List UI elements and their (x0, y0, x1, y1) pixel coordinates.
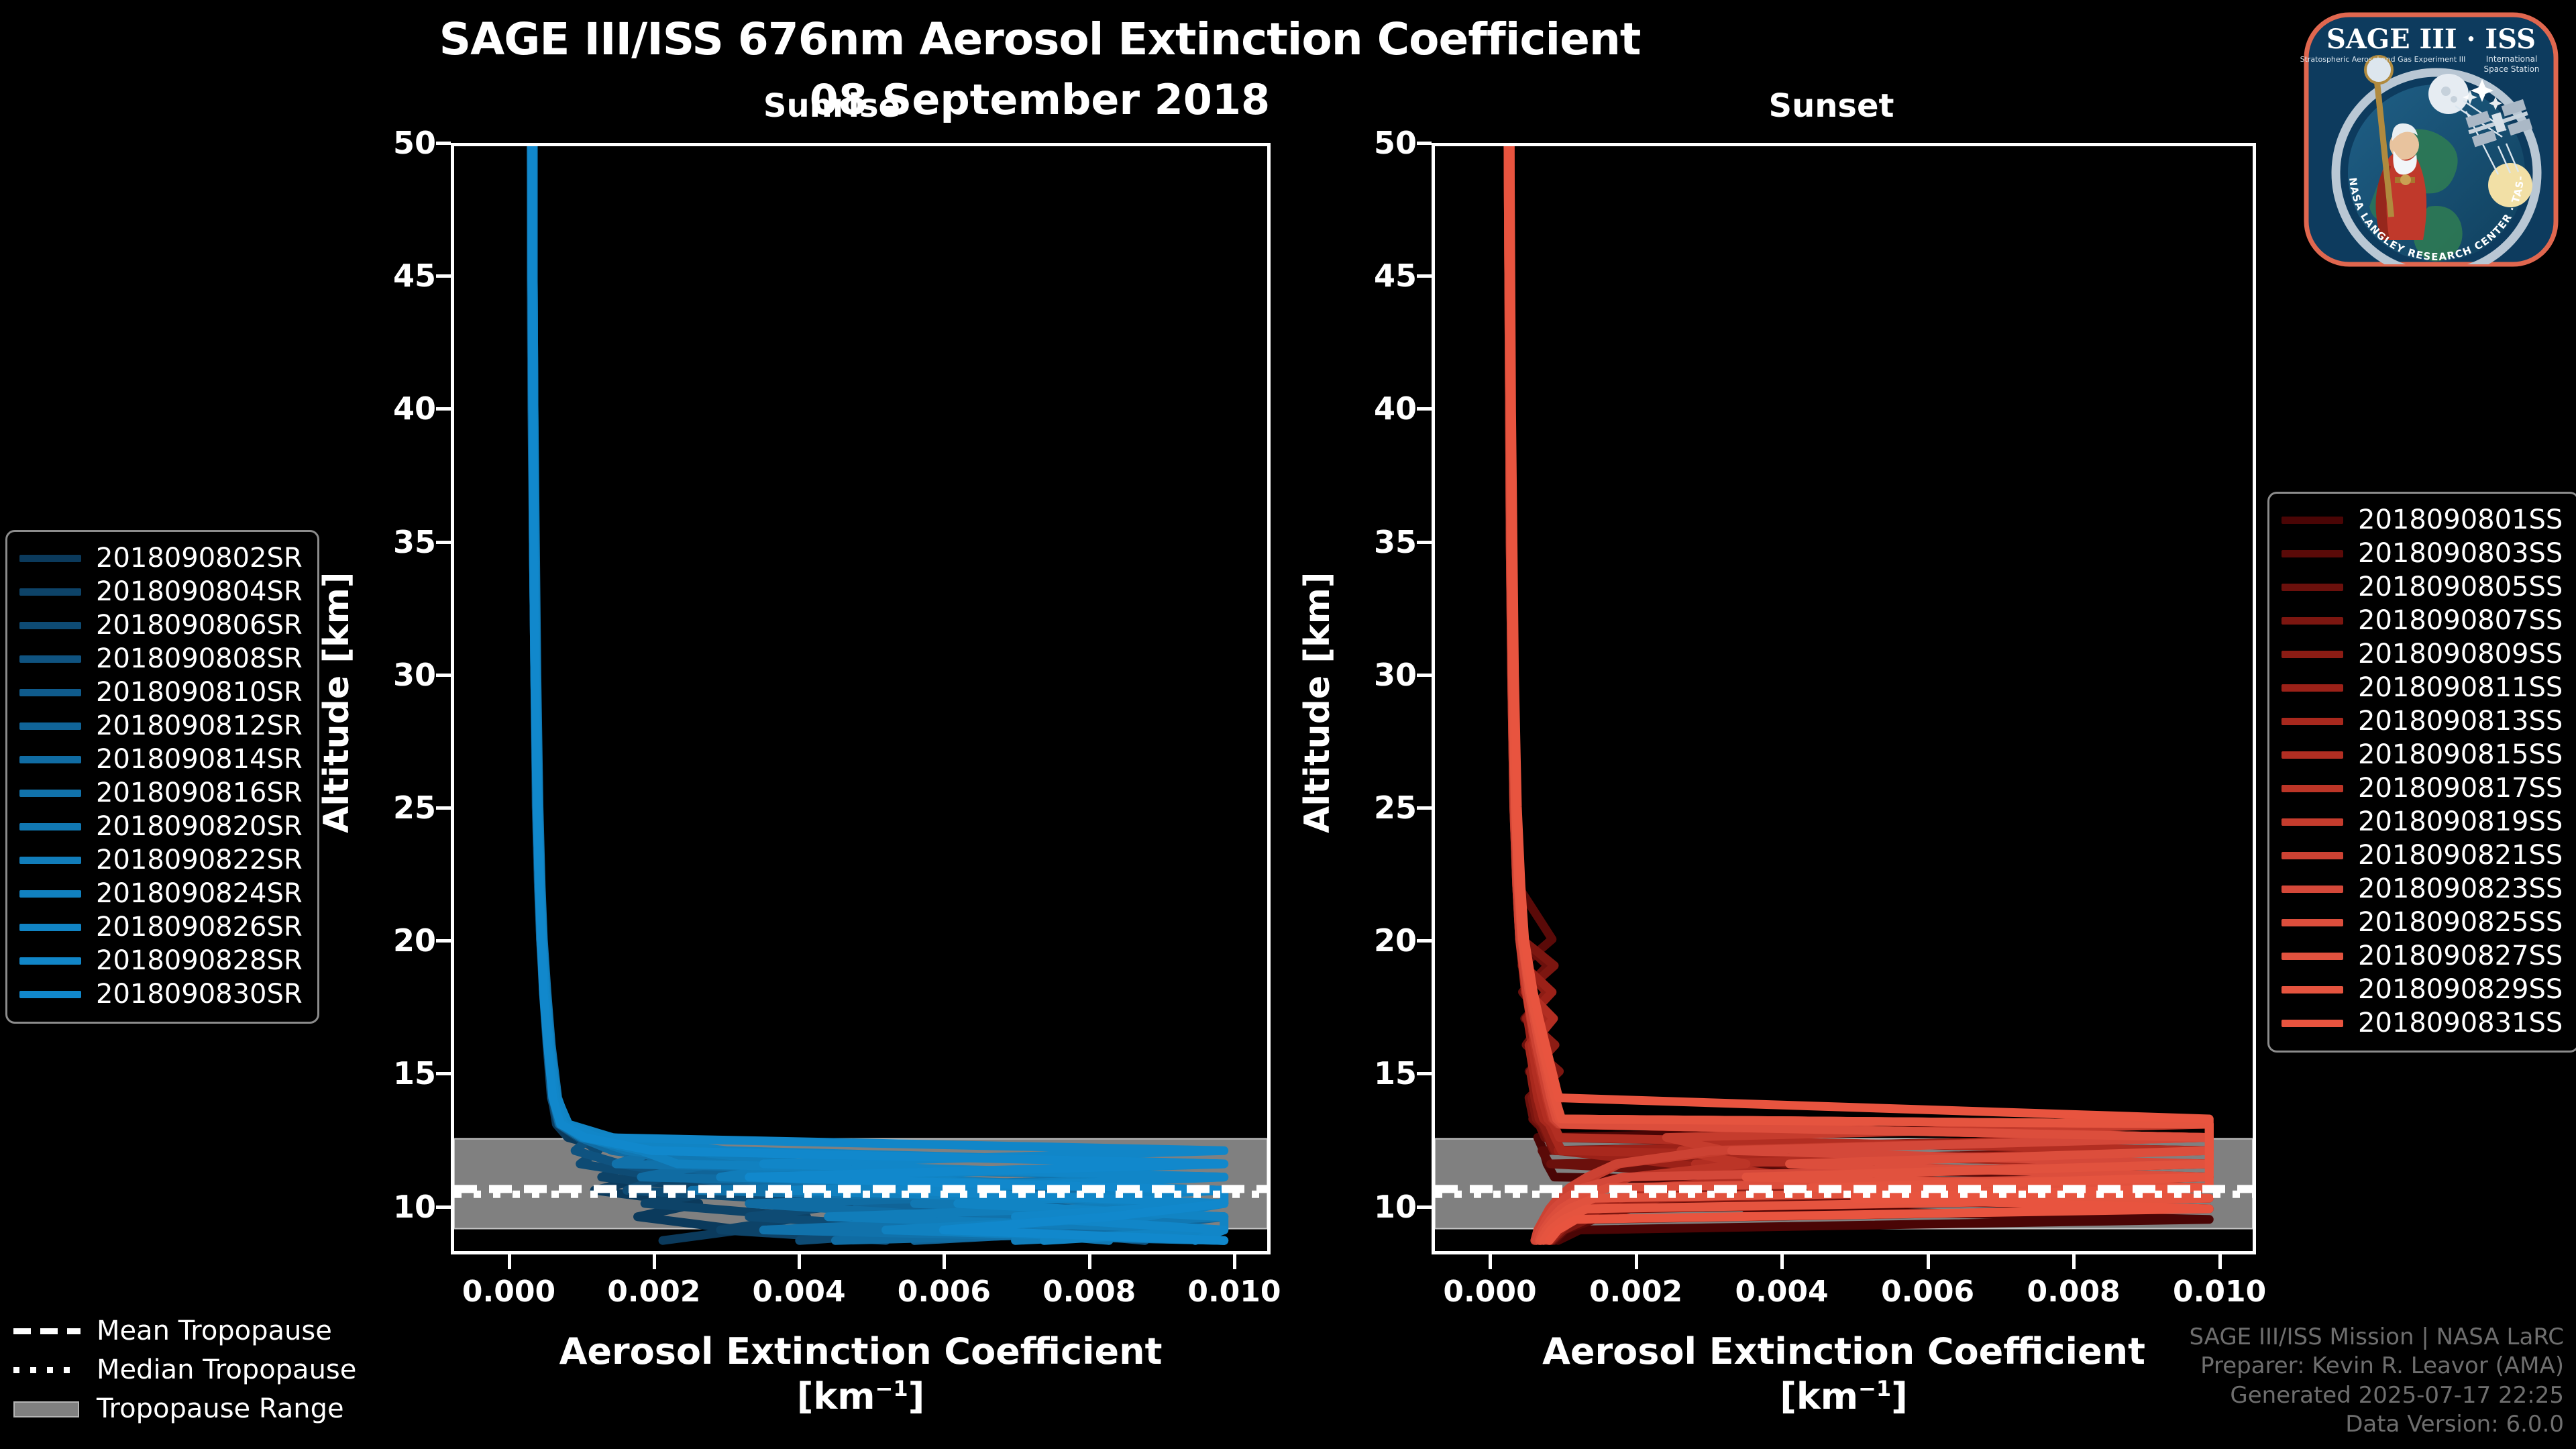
legend-item-label: 2018090807SS (2358, 605, 2563, 636)
legend-color-swatch (19, 857, 81, 864)
y-axis-tick-mark (1417, 1072, 1432, 1075)
x-axis-tick-label: 0.010 (1187, 1275, 1281, 1309)
legend-item-sunset[interactable]: 2018090829SS (2282, 973, 2563, 1006)
legend-color-swatch (2282, 885, 2343, 893)
legend-item-sunrise[interactable]: 2018090820SR (19, 810, 303, 843)
series-line (1509, 146, 2209, 1240)
legend-item-sunset[interactable]: 2018090823SS (2282, 872, 2563, 906)
series-line (532, 146, 1224, 1240)
x-axis-units: [km−1] (1432, 1375, 2256, 1417)
y-axis-tick-mark (1417, 407, 1432, 411)
y-axis-title: Altitude [km] (317, 572, 357, 833)
x-axis-tick-mark (798, 1254, 801, 1269)
legend-item-label: 2018090824SR (96, 878, 303, 909)
x-axis-tick-mark (1635, 1254, 1638, 1269)
legend-item-label: 2018090806SR (96, 610, 303, 641)
tropopause-legend-label: Tropopause Range (97, 1393, 344, 1424)
legend-item-sunset[interactable]: 2018090803SS (2282, 537, 2563, 570)
x-axis-tick-label: 0.000 (1443, 1275, 1536, 1309)
legend-color-swatch (2282, 550, 2343, 557)
series-line (1510, 146, 2209, 1240)
credits-line: SAGE III/ISS Mission | NASA LaRC (2189, 1323, 2564, 1352)
y-axis-tick-label: 45 (1316, 258, 1417, 294)
y-axis-tick-label: 10 (335, 1189, 436, 1225)
sunset-series-canvas (1435, 146, 2253, 1251)
y-axis-tick-label: 35 (1316, 524, 1417, 560)
series-line (533, 146, 1224, 1240)
series-line (532, 146, 1224, 1240)
legend-color-swatch (2282, 986, 2343, 994)
sunrise-legend[interactable]: 2018090802SR2018090804SR2018090806SR2018… (5, 530, 319, 1024)
legend-item-label: 2018090808SR (96, 643, 303, 674)
sunset-panel-heading: Sunset (1603, 87, 2059, 125)
y-axis-tick-mark (1417, 1205, 1432, 1209)
legend-color-swatch (2282, 684, 2343, 692)
legend-item-label: 2018090822SR (96, 845, 303, 875)
series-line (1509, 146, 2209, 1240)
y-axis-tick-mark (436, 1205, 451, 1209)
legend-item-sunrise[interactable]: 2018090806SR (19, 608, 303, 642)
legend-color-swatch (2282, 1020, 2343, 1027)
legend-item-sunrise[interactable]: 2018090824SR (19, 877, 303, 910)
legend-color-swatch (19, 555, 81, 562)
series-line (532, 146, 1224, 1240)
sunset-legend[interactable]: 2018090801SS2018090803SS2018090805SS2018… (2267, 492, 2576, 1053)
legend-item-label: 2018090811SS (2358, 672, 2563, 703)
legend-item-label: 2018090813SS (2358, 706, 2563, 737)
y-axis-tick-label: 40 (1316, 390, 1417, 427)
legend-color-swatch (19, 655, 81, 663)
y-axis-tick-mark (436, 1072, 451, 1075)
y-axis-tick-mark (1417, 806, 1432, 810)
series-line (531, 146, 1224, 1240)
y-axis-tick-label: 10 (1316, 1189, 1417, 1225)
legend-item-sunset[interactable]: 2018090801SS (2282, 503, 2563, 537)
legend-item-sunset[interactable]: 2018090819SS (2282, 805, 2563, 839)
legend-item-label: 2018090812SR (96, 710, 303, 741)
x-axis-tick-label: 0.006 (1881, 1275, 1974, 1309)
legend-color-swatch (2282, 617, 2343, 625)
sunset-plot-inner (1435, 146, 2253, 1251)
x-axis-tick-label: 0.000 (462, 1275, 555, 1309)
x-axis-tick-mark (2218, 1254, 2222, 1269)
x-axis-tick-mark (1780, 1254, 1784, 1269)
legend-item-sunset[interactable]: 2018090805SS (2282, 570, 2563, 604)
legend-color-swatch (2282, 517, 2343, 524)
legend-item-sunset[interactable]: 2018090807SS (2282, 604, 2563, 637)
gray-box-icon (13, 1401, 79, 1417)
legend-item-label: 2018090831SS (2358, 1008, 2563, 1038)
legend-item-sunrise[interactable]: 2018090828SR (19, 944, 303, 977)
tropopause-legend-label: Mean Tropopause (97, 1316, 332, 1346)
legend-item-label: 2018090823SS (2358, 873, 2563, 904)
series-line (533, 146, 886, 1240)
legend-color-swatch (19, 957, 81, 965)
legend-item-sunset[interactable]: 2018090831SS (2282, 1006, 2563, 1040)
credits-line: Data Version: 6.0.0 (2189, 1410, 2564, 1440)
series-line (1509, 146, 2209, 1240)
series-line (532, 146, 742, 1240)
logo-sub-right-1: International (2486, 54, 2538, 64)
series-line (1509, 146, 2209, 1240)
y-axis-tick-label: 50 (335, 125, 436, 161)
legend-color-swatch (19, 588, 81, 596)
credits-line: Generated 2025-07-17 22:25 (2189, 1381, 2564, 1411)
sunrise-panel-heading: Sunrise (604, 87, 1060, 125)
logo-sub-left: Stratospheric Aerosol and Gas Experiment… (2300, 55, 2466, 64)
legend-item-sunrise[interactable]: 2018090822SR (19, 843, 303, 877)
tropopause-legend-item: Tropopause Range (13, 1389, 356, 1428)
legend-item-label: 2018090817SS (2358, 773, 2563, 804)
legend-item-sunrise[interactable]: 2018090830SR (19, 977, 303, 1011)
dashed-line-icon (13, 1328, 80, 1334)
y-axis-title: Altitude [km] (1297, 572, 1338, 833)
x-axis-tick-mark (1233, 1254, 1236, 1269)
x-axis-tick-label: 0.002 (1589, 1275, 1682, 1309)
legend-item-label: 2018090810SR (96, 677, 303, 708)
legend-color-swatch (19, 991, 81, 998)
legend-item-label: 2018090820SR (96, 811, 303, 842)
legend-item-label: 2018090805SS (2358, 572, 2563, 602)
legend-color-swatch (2282, 651, 2343, 658)
tropopause-legend-key (13, 1400, 80, 1417)
sunrise-series-canvas (454, 146, 1267, 1251)
series-line (1509, 146, 2209, 1240)
y-axis-tick-mark (436, 142, 451, 145)
series-line (532, 146, 1224, 1240)
y-axis-tick-mark (436, 939, 451, 943)
tropopause-legend-item: Median Tropopause (13, 1350, 356, 1389)
legend-item-sunset[interactable]: 2018090811SS (2282, 671, 2563, 704)
series-line (1510, 146, 2209, 1240)
legend-item-sunset[interactable]: 2018090815SS (2282, 738, 2563, 771)
tropopause-legend-key (13, 1322, 80, 1340)
legend-item-sunrise[interactable]: 2018090814SR (19, 743, 303, 776)
credits-block: SAGE III/ISS Mission | NASA LaRCPreparer… (2189, 1323, 2564, 1440)
legend-item-label: 2018090829SS (2358, 974, 2563, 1005)
page-title: SAGE III/ISS 676nm Aerosol Extinction Co… (0, 13, 2080, 65)
series-line (1508, 146, 2209, 1240)
credits-line: Preparer: Kevin R. Leavor (AMA) (2189, 1352, 2564, 1381)
legend-color-swatch (2282, 751, 2343, 759)
legend-item-label: 2018090826SR (96, 912, 303, 943)
x-axis-tick-mark (2072, 1254, 2076, 1269)
x-axis-title: Aerosol Extinction Coefficient (451, 1330, 1271, 1373)
y-axis-tick-mark (1417, 274, 1432, 278)
legend-item-label: 2018090827SS (2358, 941, 2563, 971)
legend-item-sunrise[interactable]: 2018090810SR (19, 676, 303, 709)
y-axis-tick-label: 15 (1316, 1055, 1417, 1091)
series-line (533, 146, 1217, 1240)
y-axis-tick-label: 40 (335, 390, 436, 427)
legend-item-label: 2018090803SS (2358, 538, 2563, 569)
legend-color-swatch (19, 722, 81, 730)
tropopause-legend: Mean TropopauseMedian TropopauseTropopau… (13, 1311, 356, 1428)
legend-item-sunrise[interactable]: 2018090804SR (19, 575, 303, 608)
sunset-plot-area (1432, 143, 2256, 1254)
legend-item-sunset[interactable]: 2018090827SS (2282, 939, 2563, 973)
series-line (1509, 146, 2209, 1240)
series-line (533, 146, 1224, 1240)
y-axis-tick-mark (436, 674, 451, 677)
legend-item-sunrise[interactable]: 2018090808SR (19, 642, 303, 676)
legend-color-swatch (2282, 818, 2343, 826)
series-line (1508, 146, 2209, 1240)
x-axis-tick-label: 0.002 (607, 1275, 700, 1309)
x-axis-tick-label: 0.008 (2027, 1275, 2121, 1309)
legend-item-label: 2018090819SS (2358, 806, 2563, 837)
legend-color-swatch (2282, 852, 2343, 859)
x-axis-tick-label: 0.008 (1042, 1275, 1136, 1309)
x-axis-units: [km−1] (451, 1375, 1271, 1417)
sunrise-plot-area (451, 143, 1271, 1254)
x-axis-title: Aerosol Extinction Coefficient (1432, 1330, 2256, 1373)
y-axis-tick-label: 50 (1316, 125, 1417, 161)
legend-item-sunset[interactable]: 2018090813SS (2282, 704, 2563, 738)
legend-color-swatch (19, 756, 81, 763)
legend-item-sunrise[interactable]: 2018090812SR (19, 709, 303, 743)
legend-item-label: 2018090825SS (2358, 907, 2563, 938)
legend-item-label: 2018090828SR (96, 945, 303, 976)
legend-color-swatch (19, 890, 81, 898)
legend-item-label: 2018090809SS (2358, 639, 2563, 669)
x-axis-tick-mark (1927, 1254, 1930, 1269)
legend-item-sunset[interactable]: 2018090817SS (2282, 771, 2563, 805)
series-line (533, 146, 1224, 1240)
series-line (533, 146, 1224, 1240)
legend-color-swatch (2282, 718, 2343, 725)
x-axis-tick-label: 0.004 (1735, 1275, 1828, 1309)
legend-item-label: 2018090801SS (2358, 504, 2563, 535)
legend-color-swatch (19, 689, 81, 696)
legend-item-label: 2018090821SS (2358, 840, 2563, 871)
legend-color-swatch (2282, 953, 2343, 960)
logo-sub-right-2: Space Station (2483, 64, 2539, 74)
y-axis-tick-mark (436, 274, 451, 278)
y-axis-tick-mark (436, 407, 451, 411)
legend-color-swatch (19, 823, 81, 830)
legend-item-label: 2018090804SR (96, 576, 303, 607)
y-axis-tick-label: 15 (335, 1055, 436, 1091)
legend-color-swatch (19, 790, 81, 797)
legend-item-label: 2018090802SR (96, 543, 303, 574)
y-axis-tick-mark (1417, 939, 1432, 943)
x-axis-tick-mark (508, 1254, 511, 1269)
tropopause-legend-key (13, 1361, 80, 1379)
y-axis-tick-mark (436, 541, 451, 544)
legend-item-label: 2018090814SR (96, 744, 303, 775)
legend-item-label: 2018090815SS (2358, 739, 2563, 770)
tropopause-legend-label: Median Tropopause (97, 1354, 356, 1385)
x-axis-tick-label: 0.010 (2173, 1275, 2266, 1309)
series-line (1508, 146, 2209, 1240)
y-axis-tick-mark (1417, 142, 1432, 145)
legend-item-sunset[interactable]: 2018090821SS (2282, 839, 2563, 872)
x-axis-tick-mark (943, 1254, 946, 1269)
legend-item-sunset[interactable]: 2018090809SS (2282, 637, 2563, 671)
series-line (1509, 146, 2209, 1240)
x-axis-tick-mark (1489, 1254, 1492, 1269)
series-line (531, 146, 958, 1240)
series-line (1508, 146, 2209, 1240)
x-axis-tick-label: 0.004 (752, 1275, 845, 1309)
y-axis-tick-label: 45 (335, 258, 436, 294)
logo-title: SAGE III · ISS (2326, 23, 2536, 55)
x-axis-tick-label: 0.006 (898, 1275, 991, 1309)
legend-item-label: 2018090830SR (96, 979, 303, 1010)
legend-item-sunset[interactable]: 2018090825SS (2282, 906, 2563, 939)
legend-item-label: 2018090816SR (96, 777, 303, 808)
legend-item-sunrise[interactable]: 2018090816SR (19, 776, 303, 810)
y-axis-tick-mark (1417, 541, 1432, 544)
x-axis-tick-mark (653, 1254, 656, 1269)
dotted-line-icon (13, 1367, 80, 1373)
legend-color-swatch (19, 924, 81, 931)
sage-iii-iss-mission-patch-logo: SAGE III · ISS Stratospheric Aerosol and… (2297, 5, 2565, 274)
legend-item-sunrise[interactable]: 2018090802SR (19, 541, 303, 575)
sunrise-plot-inner (454, 146, 1267, 1251)
tropopause-legend-item: Mean Tropopause (13, 1311, 356, 1350)
y-axis-tick-label: 20 (1316, 922, 1417, 959)
x-axis-tick-mark (1088, 1254, 1091, 1269)
legend-color-swatch (2282, 785, 2343, 792)
y-axis-tick-mark (1417, 674, 1432, 677)
series-line (533, 146, 1224, 1240)
legend-color-swatch (2282, 584, 2343, 591)
legend-item-sunrise[interactable]: 2018090826SR (19, 910, 303, 944)
y-axis-tick-label: 35 (335, 524, 436, 560)
y-axis-tick-mark (436, 806, 451, 810)
y-axis-tick-label: 20 (335, 922, 436, 959)
legend-color-swatch (2282, 919, 2343, 926)
series-line (1509, 146, 2209, 1240)
series-line (1510, 146, 2209, 1240)
series-line (1510, 146, 2209, 1240)
legend-color-swatch (19, 622, 81, 629)
